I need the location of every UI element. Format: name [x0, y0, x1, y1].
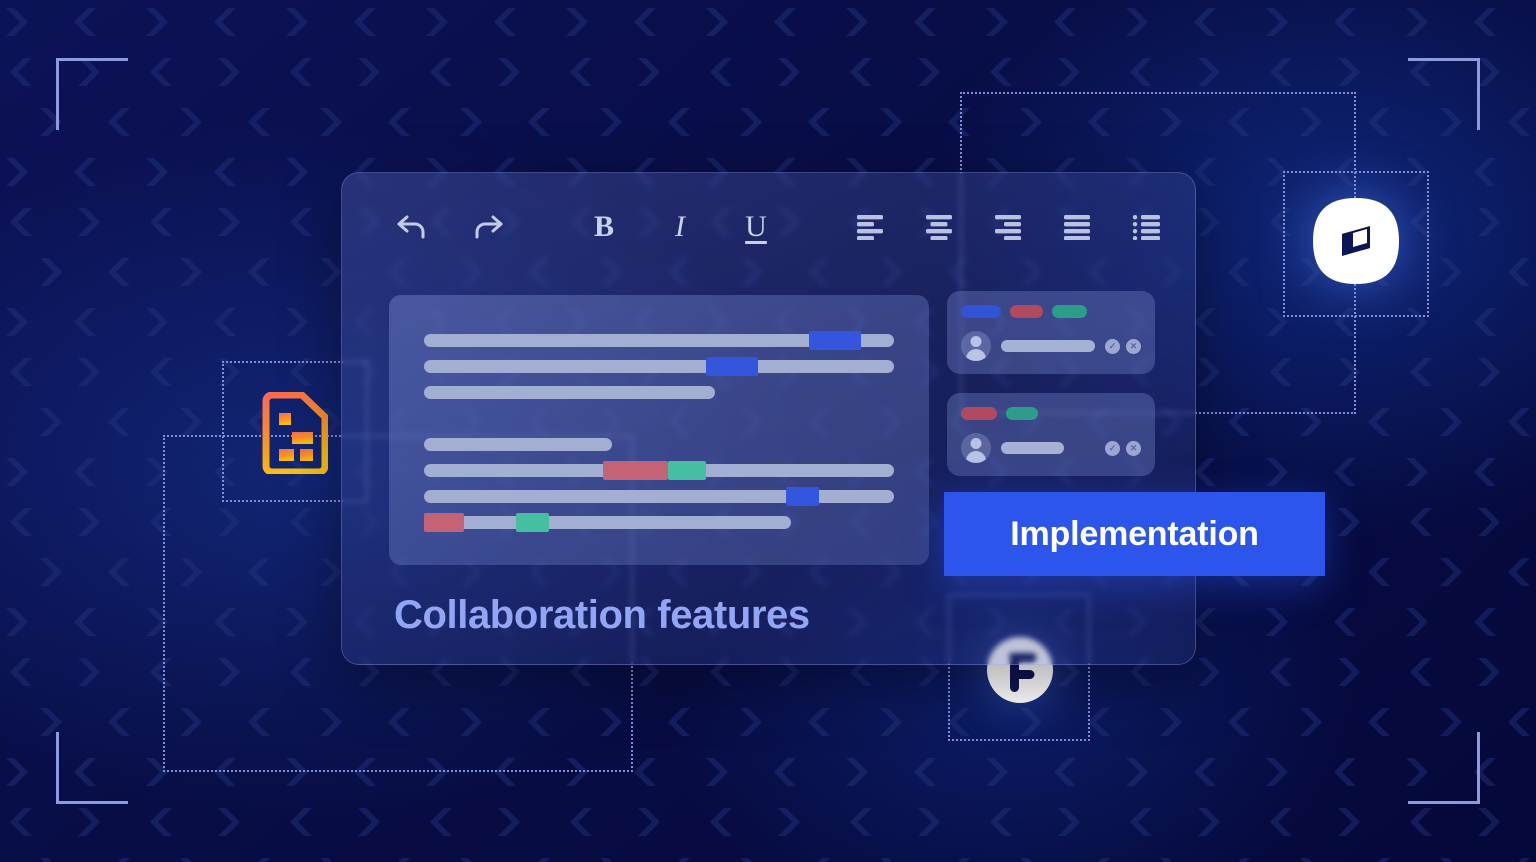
- comment-tag-list: [961, 407, 1141, 420]
- reject-close-icon[interactable]: ✕: [1126, 339, 1141, 354]
- text-highlight-teal: [668, 461, 706, 480]
- toolbar-group-history: [388, 203, 512, 251]
- corner-bracket-bottom-left: [56, 732, 128, 804]
- underline-label: U: [745, 212, 767, 242]
- align-center-icon[interactable]: [917, 203, 965, 251]
- align-justify-icon[interactable]: [1055, 203, 1103, 251]
- italic-label: I: [675, 212, 685, 242]
- avatar: [961, 433, 991, 463]
- bold-label: B: [594, 212, 614, 242]
- comment-row: ✓✕: [961, 331, 1141, 361]
- comment-card[interactable]: ✓✕: [947, 291, 1155, 374]
- document-line: [424, 438, 612, 451]
- document-line: [424, 386, 715, 399]
- reject-close-icon[interactable]: ✕: [1126, 441, 1141, 456]
- editor-toolbar: B I U: [342, 173, 1195, 281]
- comment-text-placeholder: [1001, 340, 1095, 352]
- document-content-area[interactable]: [389, 295, 929, 565]
- document-editor-window: B I U: [341, 172, 1196, 665]
- document-line: [424, 360, 894, 373]
- toolbar-group-align: [848, 203, 1172, 251]
- text-highlight-blue: [706, 357, 758, 376]
- comment-card[interactable]: ✓✕: [947, 393, 1155, 476]
- comment-tag-teal[interactable]: [1006, 407, 1038, 420]
- comment-row: ✓✕: [961, 433, 1141, 463]
- redo-icon[interactable]: [464, 203, 512, 251]
- implementation-label: Implementation: [1010, 515, 1258, 554]
- underline-icon[interactable]: U: [732, 203, 780, 251]
- comment-actions: ✓✕: [1105, 339, 1141, 354]
- bold-icon[interactable]: B: [580, 203, 628, 251]
- accept-check-icon[interactable]: ✓: [1105, 339, 1120, 354]
- comment-tag-list: [961, 305, 1141, 318]
- page-background: B I U: [0, 0, 1536, 862]
- comment-cards-panel: ✓✕✓✕: [947, 291, 1155, 495]
- document-line: [424, 516, 791, 529]
- corner-bracket-top-left: [56, 58, 128, 130]
- comment-tag-blue[interactable]: [961, 305, 1001, 318]
- bulleted-list-icon[interactable]: [1124, 203, 1172, 251]
- align-right-icon[interactable]: [986, 203, 1034, 251]
- page-title: Collaboration features: [394, 593, 810, 638]
- document-line: [424, 334, 894, 347]
- text-highlight-red: [603, 461, 669, 480]
- document-line: [424, 464, 894, 477]
- comment-tag-red[interactable]: [961, 407, 997, 420]
- comment-tag-teal[interactable]: [1052, 305, 1087, 318]
- document-file-icon: [262, 392, 328, 474]
- toolbar-group-format: B I U: [580, 203, 780, 251]
- corner-bracket-bottom-right: [1408, 732, 1480, 804]
- corner-bracket-top-right: [1408, 58, 1480, 130]
- text-highlight-red: [424, 513, 464, 532]
- accept-check-icon[interactable]: ✓: [1105, 441, 1120, 456]
- implementation-callout: Implementation: [944, 492, 1325, 576]
- comment-tag-red[interactable]: [1010, 305, 1043, 318]
- align-left-icon[interactable]: [848, 203, 896, 251]
- text-highlight-blue: [786, 487, 819, 506]
- document-line: [424, 490, 894, 503]
- comment-actions: ✓✕: [1105, 441, 1141, 456]
- italic-icon[interactable]: I: [656, 203, 704, 251]
- text-highlight-blue: [809, 331, 861, 350]
- text-highlight-teal: [516, 513, 549, 532]
- squircle-brand-logo: [1311, 196, 1401, 286]
- undo-icon[interactable]: [388, 203, 436, 251]
- comment-text-placeholder: [1001, 442, 1064, 454]
- avatar: [961, 331, 991, 361]
